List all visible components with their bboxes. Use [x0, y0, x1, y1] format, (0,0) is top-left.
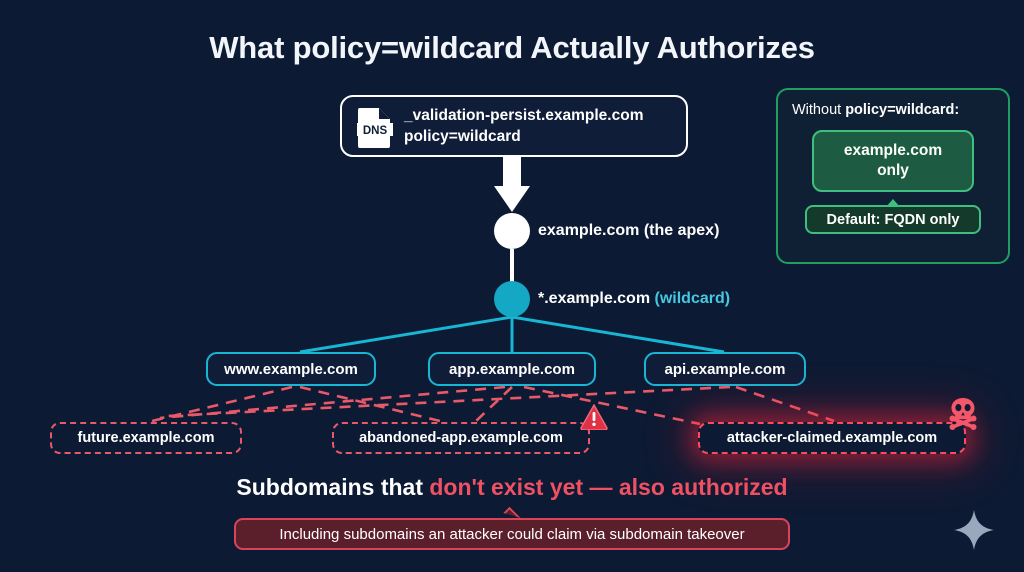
without-wildcard-chip: example.com only	[812, 130, 974, 192]
dns-record-name: _validation-persist.example.com	[404, 105, 643, 126]
subdomain-box-www: www.example.com	[206, 352, 376, 386]
footer-headline-white: Subdomains that	[236, 474, 429, 500]
dns-file-icon: DNS	[356, 105, 394, 147]
ghost-subdomain-abandoned: abandoned-app.example.com	[332, 422, 590, 454]
page-title: What policy=wildcard Actually Authorizes	[0, 30, 1024, 66]
dns-record-policy: policy=wildcard	[404, 126, 643, 147]
wildcard-to-children-lines	[300, 317, 724, 352]
without-wildcard-chip-line1: example.com	[844, 141, 942, 161]
subdomain-box-app: app.example.com	[428, 352, 596, 386]
wildcard-node-label: *.example.com (wildcard)	[538, 290, 730, 308]
infographic-canvas: What policy=wildcard Actually Authorizes…	[0, 0, 1024, 572]
default-fqdn-badge: Default: FQDN only	[805, 205, 981, 234]
ghost-subdomain-attacker: attacker-claimed.example.com	[698, 422, 966, 454]
without-wildcard-title-prefix: Without	[792, 102, 845, 118]
warning-triangle-icon	[580, 404, 608, 430]
ghost-subdomain-future: future.example.com	[50, 422, 242, 454]
without-wildcard-title-bold: policy=wildcard:	[845, 102, 959, 118]
wildcard-node-dot	[494, 281, 530, 317]
apex-node-dot	[494, 213, 530, 249]
dns-record-box: DNS _validation-persist.example.com poli…	[340, 95, 688, 157]
without-wildcard-chip-line2: only	[877, 161, 909, 181]
ghost-subdomain-dashed-lines	[152, 387, 834, 424]
subdomain-box-api: api.example.com	[644, 352, 806, 386]
skull-and-crossbones-icon	[946, 396, 980, 430]
wildcard-node-name: *.example.com	[538, 290, 650, 307]
without-wildcard-panel: Without policy=wildcard: example.com onl…	[776, 88, 1010, 264]
apex-node-label: example.com (the apex)	[538, 222, 719, 240]
footer-headline-red: don't exist yet — also authorized	[429, 474, 787, 500]
dns-to-apex-arrow	[494, 157, 530, 212]
footer-headline: Subdomains that don't exist yet — also a…	[0, 474, 1024, 501]
sparkle-star-icon	[952, 508, 996, 552]
footer-caption: Including subdomains an attacker could c…	[234, 518, 790, 550]
svg-text:DNS: DNS	[363, 125, 388, 137]
wildcard-node-tag: (wildcard)	[655, 290, 731, 307]
without-wildcard-title: Without policy=wildcard:	[792, 102, 994, 118]
